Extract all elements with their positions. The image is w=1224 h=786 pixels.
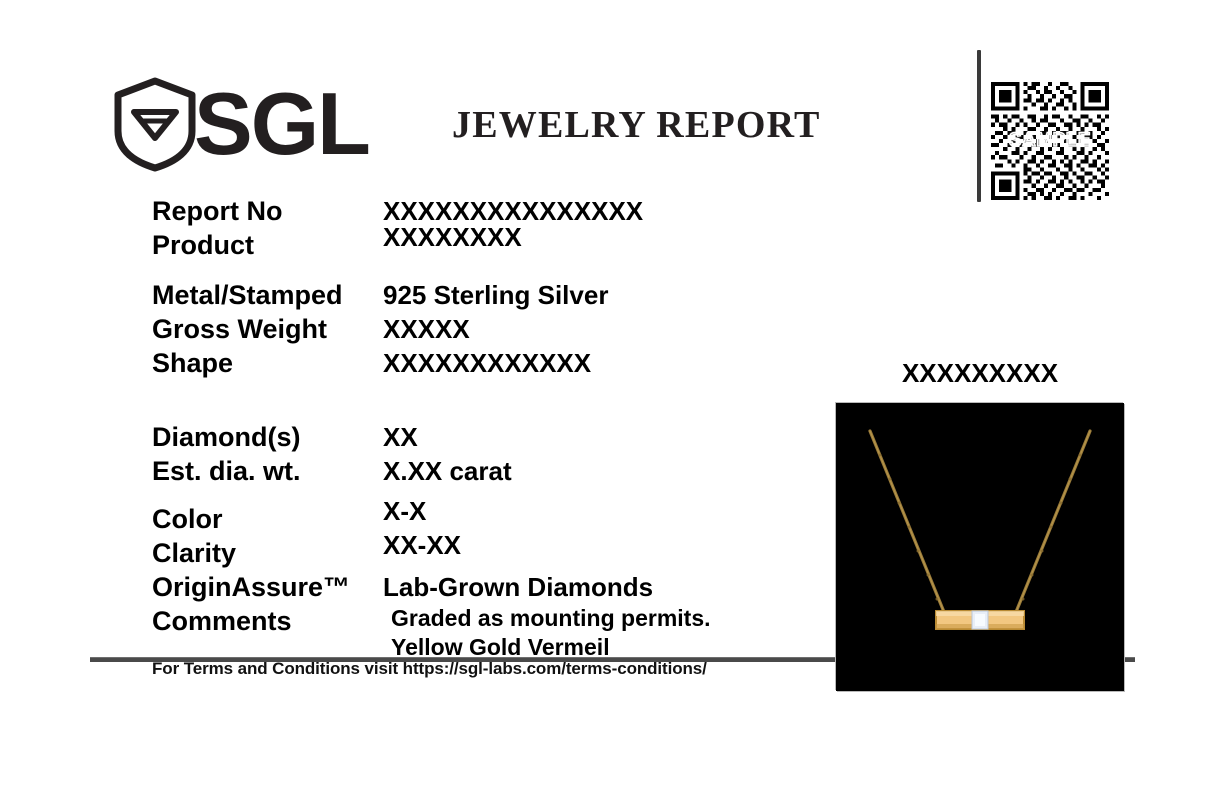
field-label: Clarity bbox=[152, 536, 383, 570]
shield-gem-icon bbox=[112, 76, 198, 172]
field-row-originassure: OriginAssure™ Lab-Grown Diamonds bbox=[152, 570, 852, 604]
field-value: XX bbox=[383, 420, 418, 454]
field-label: Color bbox=[152, 502, 383, 536]
qr-code-icon[interactable]: SAMPLE bbox=[991, 82, 1109, 200]
field-value: Graded as mounting permits. Yellow Gold … bbox=[383, 604, 711, 662]
field-row-metal-stamped: Metal/Stamped 925 Sterling Silver bbox=[152, 278, 852, 312]
field-row-shape: Shape XXXXXXXXXXXX bbox=[152, 346, 852, 380]
field-label: Gross Weight bbox=[152, 312, 383, 346]
field-label: OriginAssure™ bbox=[152, 570, 383, 604]
report-fields: Report No XXXXXXXXXXXXXXX Product XXXXXX… bbox=[152, 194, 852, 662]
field-label: Shape bbox=[152, 346, 383, 380]
field-row-color: Color X-X bbox=[152, 502, 852, 536]
field-value: Lab-Grown Diamonds bbox=[383, 570, 653, 604]
brand-logo: SGL bbox=[112, 76, 369, 172]
field-value: XXXXX bbox=[383, 312, 470, 346]
field-label: Metal/Stamped bbox=[152, 278, 383, 312]
field-value: X-X bbox=[383, 494, 426, 528]
field-label: Est. dia. wt. bbox=[152, 454, 383, 488]
field-row-product: Product XXXXXXXX bbox=[152, 228, 852, 262]
field-label: Comments bbox=[152, 604, 383, 638]
field-label: Product bbox=[152, 228, 383, 262]
comment-line: Graded as mounting permits. bbox=[391, 604, 711, 633]
field-row-comments: Comments Graded as mounting permits. Yel… bbox=[152, 604, 852, 662]
field-label: Report No bbox=[152, 194, 383, 228]
field-value: XX-XX bbox=[383, 528, 461, 562]
page-title: JEWELRY REPORT bbox=[452, 103, 821, 147]
product-photo-caption: XXXXXXXXX bbox=[836, 358, 1124, 389]
field-row-clarity: Clarity XX-XX bbox=[152, 536, 852, 570]
field-value: XXXXXXXX bbox=[383, 220, 522, 254]
field-value: XXXXXXXXXXXX bbox=[383, 346, 591, 380]
brand-wordmark: SGL bbox=[194, 87, 369, 161]
jewelry-report-page: SGL JEWELRY REPORT bbox=[0, 0, 1224, 786]
field-value: X.XX carat bbox=[383, 454, 512, 488]
bar-necklace-photo bbox=[836, 403, 1124, 691]
field-row-diamonds: Diamond(s) XX bbox=[152, 420, 852, 454]
terms-and-conditions-text: For Terms and Conditions visit https://s… bbox=[152, 659, 707, 679]
field-row-est-dia-wt: Est. dia. wt. X.XX carat bbox=[152, 454, 852, 488]
field-value: 925 Sterling Silver bbox=[383, 278, 608, 312]
field-row-gross-weight: Gross Weight XXXXX bbox=[152, 312, 852, 346]
field-label: Diamond(s) bbox=[152, 420, 383, 454]
header-divider bbox=[977, 50, 981, 202]
